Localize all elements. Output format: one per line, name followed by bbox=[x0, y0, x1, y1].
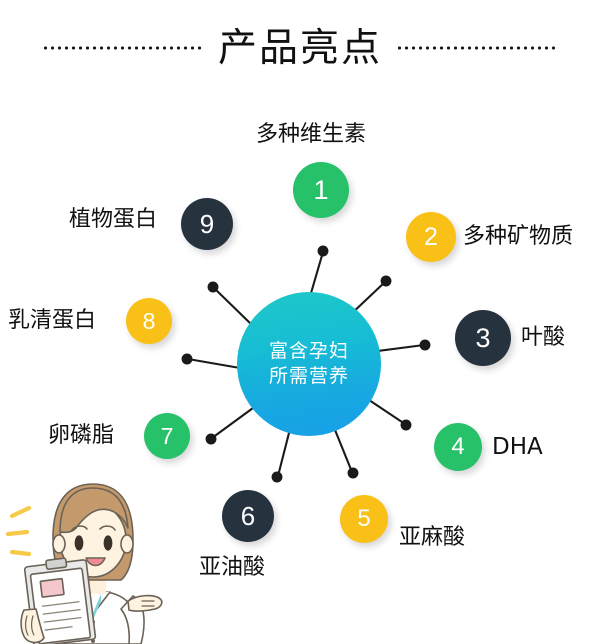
highlight-number-7: 7 bbox=[161, 425, 174, 448]
highlight-node-3[interactable]: 3 bbox=[455, 310, 511, 366]
center-hub: 富含孕妇 所需营养 bbox=[237, 292, 381, 436]
highlight-label-3: 叶酸 bbox=[521, 327, 565, 349]
highlight-number-1: 1 bbox=[313, 177, 328, 204]
highlight-number-4: 4 bbox=[451, 435, 464, 459]
highlight-node-7[interactable]: 7 bbox=[144, 413, 190, 459]
highlight-label-2: 多种矿物质 bbox=[463, 226, 573, 248]
nutritionist-character-icon bbox=[2, 470, 172, 644]
highlight-label-6: 亚油酸 bbox=[199, 557, 265, 579]
highlight-label-7: 卵磷脂 bbox=[48, 425, 114, 447]
hub-line-1: 富含孕妇 bbox=[269, 339, 349, 364]
highlight-node-2[interactable]: 2 bbox=[406, 212, 456, 262]
hub-line-2: 所需营养 bbox=[269, 364, 349, 389]
highlight-label-4: DHA bbox=[492, 436, 543, 459]
highlight-number-5: 5 bbox=[357, 507, 370, 531]
highlight-label-9: 植物蛋白 bbox=[69, 209, 157, 231]
highlight-number-9: 9 bbox=[200, 211, 214, 237]
highlight-label-8: 乳清蛋白 bbox=[8, 310, 96, 332]
highlight-number-6: 6 bbox=[241, 503, 255, 529]
infographic-canvas: 产品亮点 富含孕妇 所需营养 多种维生素 1 2 多种矿物质 3 叶酸 bbox=[0, 0, 600, 644]
highlight-node-9[interactable]: 9 bbox=[181, 198, 233, 250]
highlight-node-1[interactable]: 1 bbox=[293, 162, 349, 218]
highlight-number-3: 3 bbox=[475, 325, 490, 352]
highlight-node-4[interactable]: 4 bbox=[434, 423, 482, 471]
highlight-label-1: 多种维生素 bbox=[256, 124, 366, 146]
highlight-node-8[interactable]: 8 bbox=[126, 298, 172, 344]
highlight-number-8: 8 bbox=[143, 310, 156, 333]
highlight-node-5[interactable]: 5 bbox=[340, 495, 388, 543]
highlight-label-5: 亚麻酸 bbox=[399, 527, 465, 549]
highlight-node-6[interactable]: 6 bbox=[222, 490, 274, 542]
highlight-number-2: 2 bbox=[424, 225, 438, 250]
